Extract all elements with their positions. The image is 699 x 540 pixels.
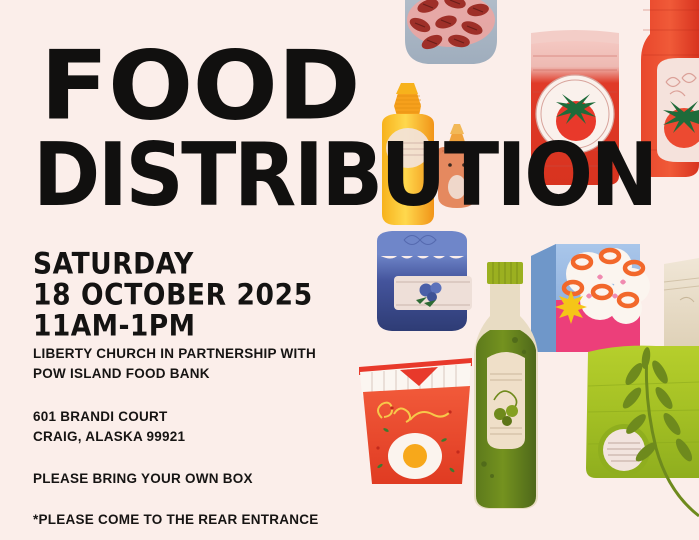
olive-oil-bottle-illustration bbox=[474, 262, 538, 509]
food-distribution-flyer: FOOD DISTRIBUTION SATURDAY 18 OCTOBER 20… bbox=[0, 0, 699, 540]
jam-jar-illustration bbox=[377, 231, 472, 331]
address-line-2: CRAIG, ALASKA 99921 bbox=[33, 430, 185, 444]
cereal-box-illustration bbox=[531, 244, 650, 352]
note-bring-box: PLEASE BRING YOUR OWN BOX bbox=[33, 472, 253, 486]
event-day: SATURDAY bbox=[33, 250, 194, 279]
event-time: 11AM-1PM bbox=[33, 312, 195, 341]
paper-carton-illustration bbox=[664, 258, 699, 352]
note-rear-entrance: *PLEASE COME TO THE REAR ENTRANCE bbox=[33, 513, 319, 527]
noodle-cup-illustration bbox=[359, 358, 472, 484]
event-date: 18 OCTOBER 2025 bbox=[33, 281, 313, 310]
organizer-line-1: LIBERTY CHURCH IN PARTNERSHIP WITH bbox=[33, 347, 316, 361]
green-package-illustration bbox=[586, 346, 699, 516]
organizer-line-2: POW ISLAND FOOD BANK bbox=[33, 367, 210, 381]
page-title-line-2: DISTRIBUTION bbox=[33, 141, 656, 213]
address-line-1: 601 BRANDI COURT bbox=[33, 410, 168, 424]
page-title-line-1: FOOD bbox=[40, 47, 360, 125]
bean-bag-illustration bbox=[405, 0, 497, 64]
